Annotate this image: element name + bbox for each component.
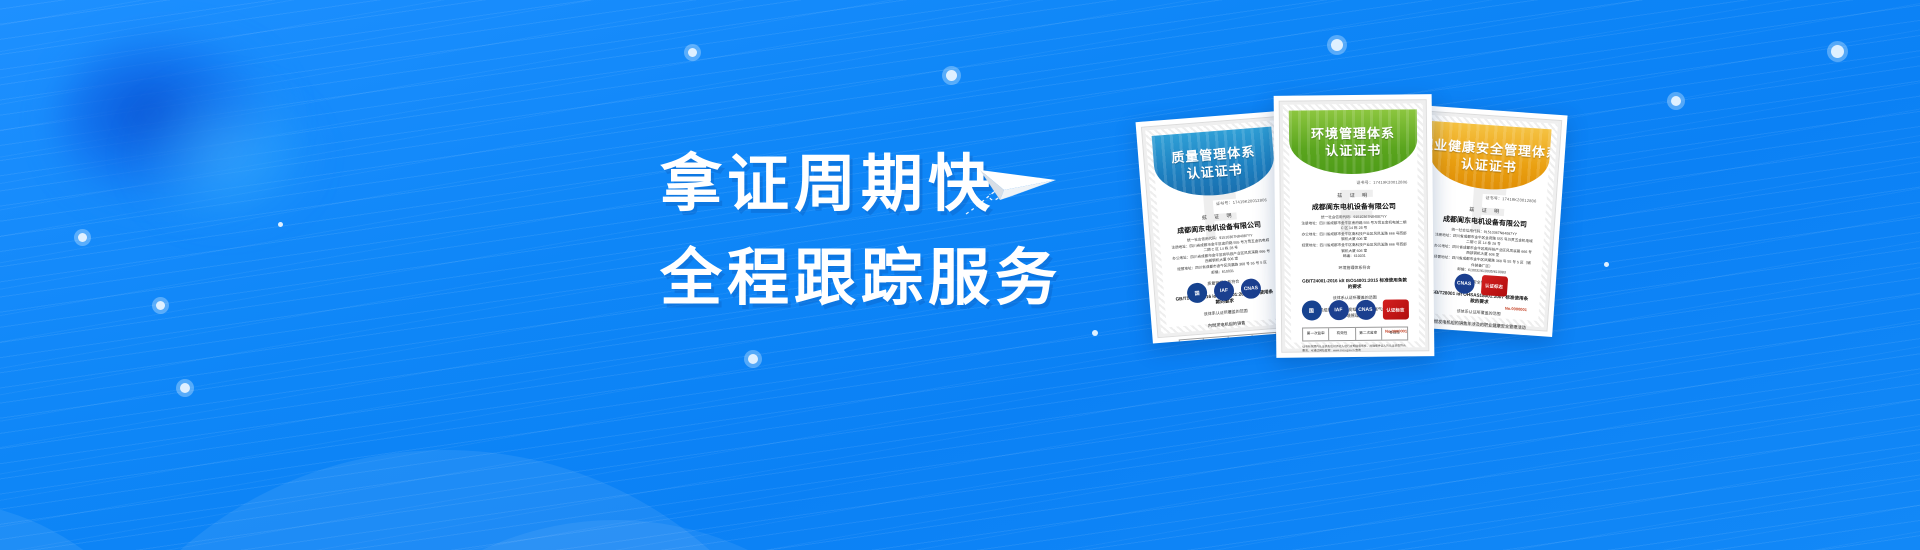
certificate-title-line2: 认证证书 <box>1186 161 1243 182</box>
paper-plane-icon <box>960 148 1080 228</box>
decorative-dot <box>156 301 165 310</box>
certificate-postcode: 邮编：610031 <box>1301 254 1407 261</box>
glow-blob-secondary <box>140 90 310 220</box>
cnas-logo: CNAS <box>1355 300 1375 320</box>
audit-cell: 第一次监审 <box>1180 339 1205 344</box>
cnas-logo: CNAS <box>1240 278 1262 300</box>
decorative-dot <box>180 383 190 393</box>
certificate-number: No.0000001 <box>1385 328 1407 333</box>
certificate-paper: F 职业健康安全管理体系 认证证书 证书号：17419K20012806 兹 证… <box>1418 121 1551 321</box>
certificate-title-line2: 认证证书 <box>1325 142 1381 160</box>
certificate-paper: F 质量管理体系 认证证书 证书号：17419K20012806 兹 证 明 成… <box>1152 127 1287 328</box>
audit-cell: 第二次监审 <box>1356 327 1382 339</box>
certificate-footnote: 证书有效期内认证机构应对持证人进行定期监督审核，并确保持证人的认证资质符合要求，… <box>1291 340 1419 352</box>
certificate-environment[interactable]: F 环境管理体系 认证证书 证书号：17419K20012806 兹 证 明 成… <box>1274 94 1435 358</box>
certificate-subtitle: 兹 证 明 <box>1301 191 1407 199</box>
certificate-header: 环境管理体系 认证证书 <box>1289 109 1418 174</box>
audit-cell: 有效性 <box>1329 328 1355 340</box>
certificate-scope-label: 该体系认证所覆盖的范围 <box>1177 306 1275 320</box>
certificate-header: 质量管理体系 认证证书 <box>1152 127 1277 200</box>
round-logo: 国 <box>1301 300 1321 320</box>
certificates-group: F 质量管理体系 认证证书 证书号：17419K20012806 兹 证 明 成… <box>1120 0 1920 550</box>
certificate-title-line1: 环境管理体系 <box>1311 125 1395 143</box>
accreditation-seal: 认证标志 <box>1382 299 1408 319</box>
accreditation-seal: 认证标志 <box>1480 275 1507 297</box>
round-logo: 国 <box>1186 282 1208 304</box>
audit-cell: 第二次监审 <box>1228 335 1253 344</box>
audit-cell: 有效性 <box>1204 337 1229 344</box>
decorative-dot <box>946 70 957 81</box>
certificate-org: 成都阆东电机设备有限公司 <box>1301 201 1407 212</box>
decorative-dot <box>748 354 758 364</box>
iaf-logo: IAF <box>1328 300 1348 320</box>
certificate-system-label: 环境管理体系符合 <box>1301 264 1407 271</box>
cnas-logo: CNAS <box>1453 273 1474 294</box>
certificate-serial: 证书号：17419K20012806 <box>1289 173 1417 186</box>
audit-cell: 有效性 <box>1252 333 1276 343</box>
iaf-logo: IAF <box>1213 280 1235 302</box>
audit-cell: 有效性 <box>1452 335 1477 337</box>
certificate-header: 职业健康安全管理体系 认证证书 <box>1427 121 1551 193</box>
certificate-scope: 内燃发电机组的销售年涉及的职业健康安全管理活动 <box>1429 318 1527 331</box>
decorative-dot <box>1092 330 1098 336</box>
certificate-audit-table: 第二次监审 有效性 第三次监审 有效性 <box>1427 332 1526 337</box>
headline-line-2: 全程跟踪服务 <box>660 231 1062 325</box>
decorative-dot <box>688 48 697 57</box>
decorative-dot <box>78 233 87 242</box>
promo-banner: 拿证周期快 全程跟踪服务 F 质量管理体系 认证证书 证书号：17419K200… <box>0 0 1920 550</box>
certificate-logos: 国 IAF CNAS 认证标志 <box>1291 299 1419 320</box>
certificate-title-line2: 认证证书 <box>1460 155 1517 176</box>
audit-cell: 第一次监审 <box>1303 328 1329 340</box>
certificate-paper: F 环境管理体系 认证证书 证书号：17419K20012806 兹 证 明 成… <box>1289 109 1419 342</box>
certificate-standard: GB/T24001-2016 idt ISO14001:2015 标准使用条款的… <box>1302 277 1408 290</box>
decorative-dot <box>278 222 283 227</box>
